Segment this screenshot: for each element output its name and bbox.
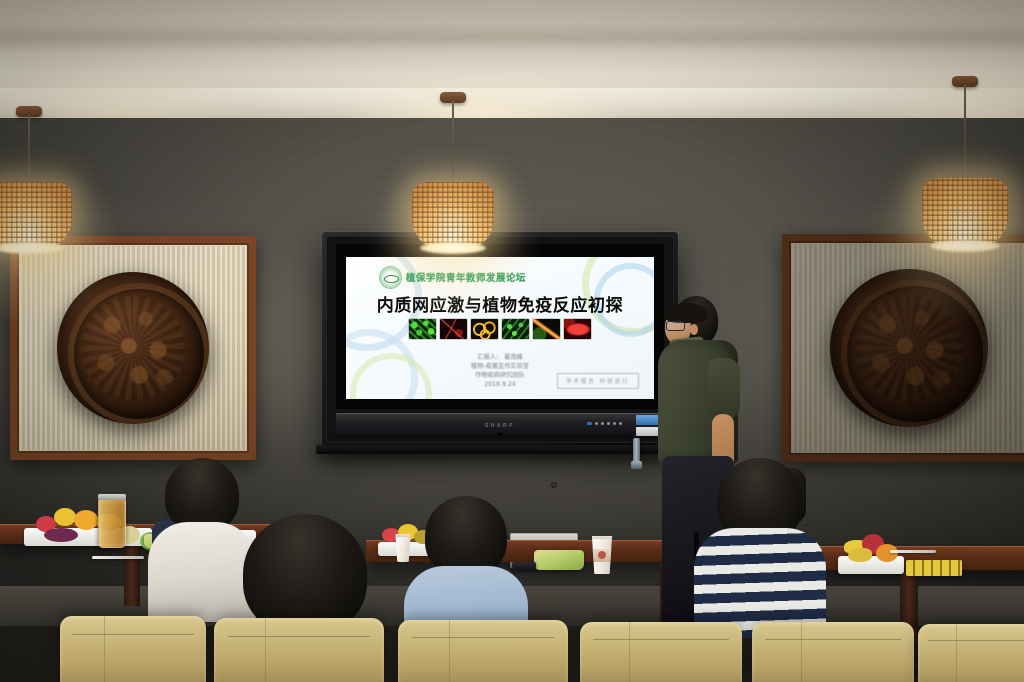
carved-wood-medallion-left [57,272,209,424]
snack-tray-right [906,560,962,576]
medallion-carving-right [855,294,962,401]
lamp-shade-center [412,182,494,248]
lamp-cord-left [28,115,30,187]
lamp-weave-center [412,182,494,248]
tv-brand-label: SHARP [485,423,515,429]
slide-header: 植保学院青年教师发展论坛 [380,267,526,288]
lamp-cord-right [964,85,966,185]
framed-carved-medallion-left [10,236,256,460]
lamp-shade-right [922,178,1008,246]
tv-button-4-icon[interactable] [613,422,616,425]
slide-watermark: 学术报告 科研进行 [557,373,639,389]
audience-member-striped-polo [694,458,826,636]
micrograph-5 [533,319,560,339]
fruit-orange-1 [74,510,98,530]
chair-3[interactable] [398,620,568,682]
tv-base-shelf [316,445,684,454]
fruit-grapes-1 [44,528,78,542]
micrograph-3 [471,319,498,339]
tv-power-indicator-icon [587,422,592,425]
fruit-banana-4 [848,548,872,562]
glasses-icon [666,321,685,331]
chair-2[interactable] [214,618,384,682]
micrograph-2 [440,319,467,339]
slide-title: 内质网应激与植物免疫反应初探 [346,291,654,316]
tv-button-row[interactable] [587,422,622,425]
lamp-cord-center [452,101,454,187]
lamp-light-lip-right [930,240,1000,252]
slide-subtitle-line-1: 汇报人： 翟茂峰 [346,354,654,363]
carved-wood-medallion-right [830,269,988,427]
framed-carved-medallion-right [782,234,1024,462]
wall-mounted-tv[interactable]: 植保学院青年教师发展论坛 内质网应激与植物免疫反应初探 汇报人： 翟茂峰 植物-… [322,232,678,447]
tea-jar [98,498,126,548]
fruit-pear-1 [54,508,76,526]
ceiling [0,0,1024,126]
tv-button-1-icon[interactable] [595,422,598,425]
lamp-weave-left [0,182,72,248]
salad-bowl [534,550,584,570]
slide-micrograph-strip [346,319,654,339]
slide-header-text: 植保学院青年教师发展论坛 [406,270,526,284]
lamp-light-lip-center [420,242,486,254]
presenter-sleeve [708,358,740,420]
presenter-ear [690,324,698,335]
medallion-carving-left [81,296,184,399]
audience-head-2 [243,514,367,634]
tv-ir-receiver-icon [497,433,503,436]
coffee-cup-logo-icon [598,551,606,559]
micrograph-4 [502,319,529,339]
lamp-weave-right [922,178,1008,246]
tv-control-bar[interactable]: SHARP [336,413,664,439]
tv-button-5-icon[interactable] [619,422,622,425]
presenter-hair [664,303,708,323]
table-left-leg [124,544,140,606]
chair-4[interactable] [580,622,742,682]
tv-inner-bezel: 植保学院青年教师发展论坛 内质网应激与植物免疫反应初探 汇报人： 翟茂峰 植物-… [336,244,664,409]
audience-head-3 [425,496,507,576]
leaf-circle-logo-icon [380,267,401,288]
micrograph-6 [564,319,591,339]
slide-subtitle-line-2: 植物-疫菌互作实验室 [346,363,654,372]
wall-sensor-icon [551,482,557,488]
pen-set-right [890,550,936,553]
lamp-shade-left [0,182,72,248]
conference-room-photo: 植保学院青年教师发展论坛 内质网应激与植物免疫反应初探 汇报人： 翟茂峰 植物-… [0,0,1024,682]
chair-5[interactable] [752,622,914,682]
tv-button-2-icon[interactable] [601,422,604,425]
pen-set [92,556,144,559]
fruit-orange-2 [876,544,898,562]
chair-6[interactable] [918,624,1024,682]
chair-1[interactable] [60,616,206,682]
tv-screen[interactable]: 植保学院青年教师发展论坛 内质网应激与植物免疫反应初探 汇报人： 翟茂峰 植物-… [346,257,654,399]
tv-cable-hook [633,438,640,464]
micrograph-1 [409,319,436,339]
tv-button-3-icon[interactable] [607,422,610,425]
